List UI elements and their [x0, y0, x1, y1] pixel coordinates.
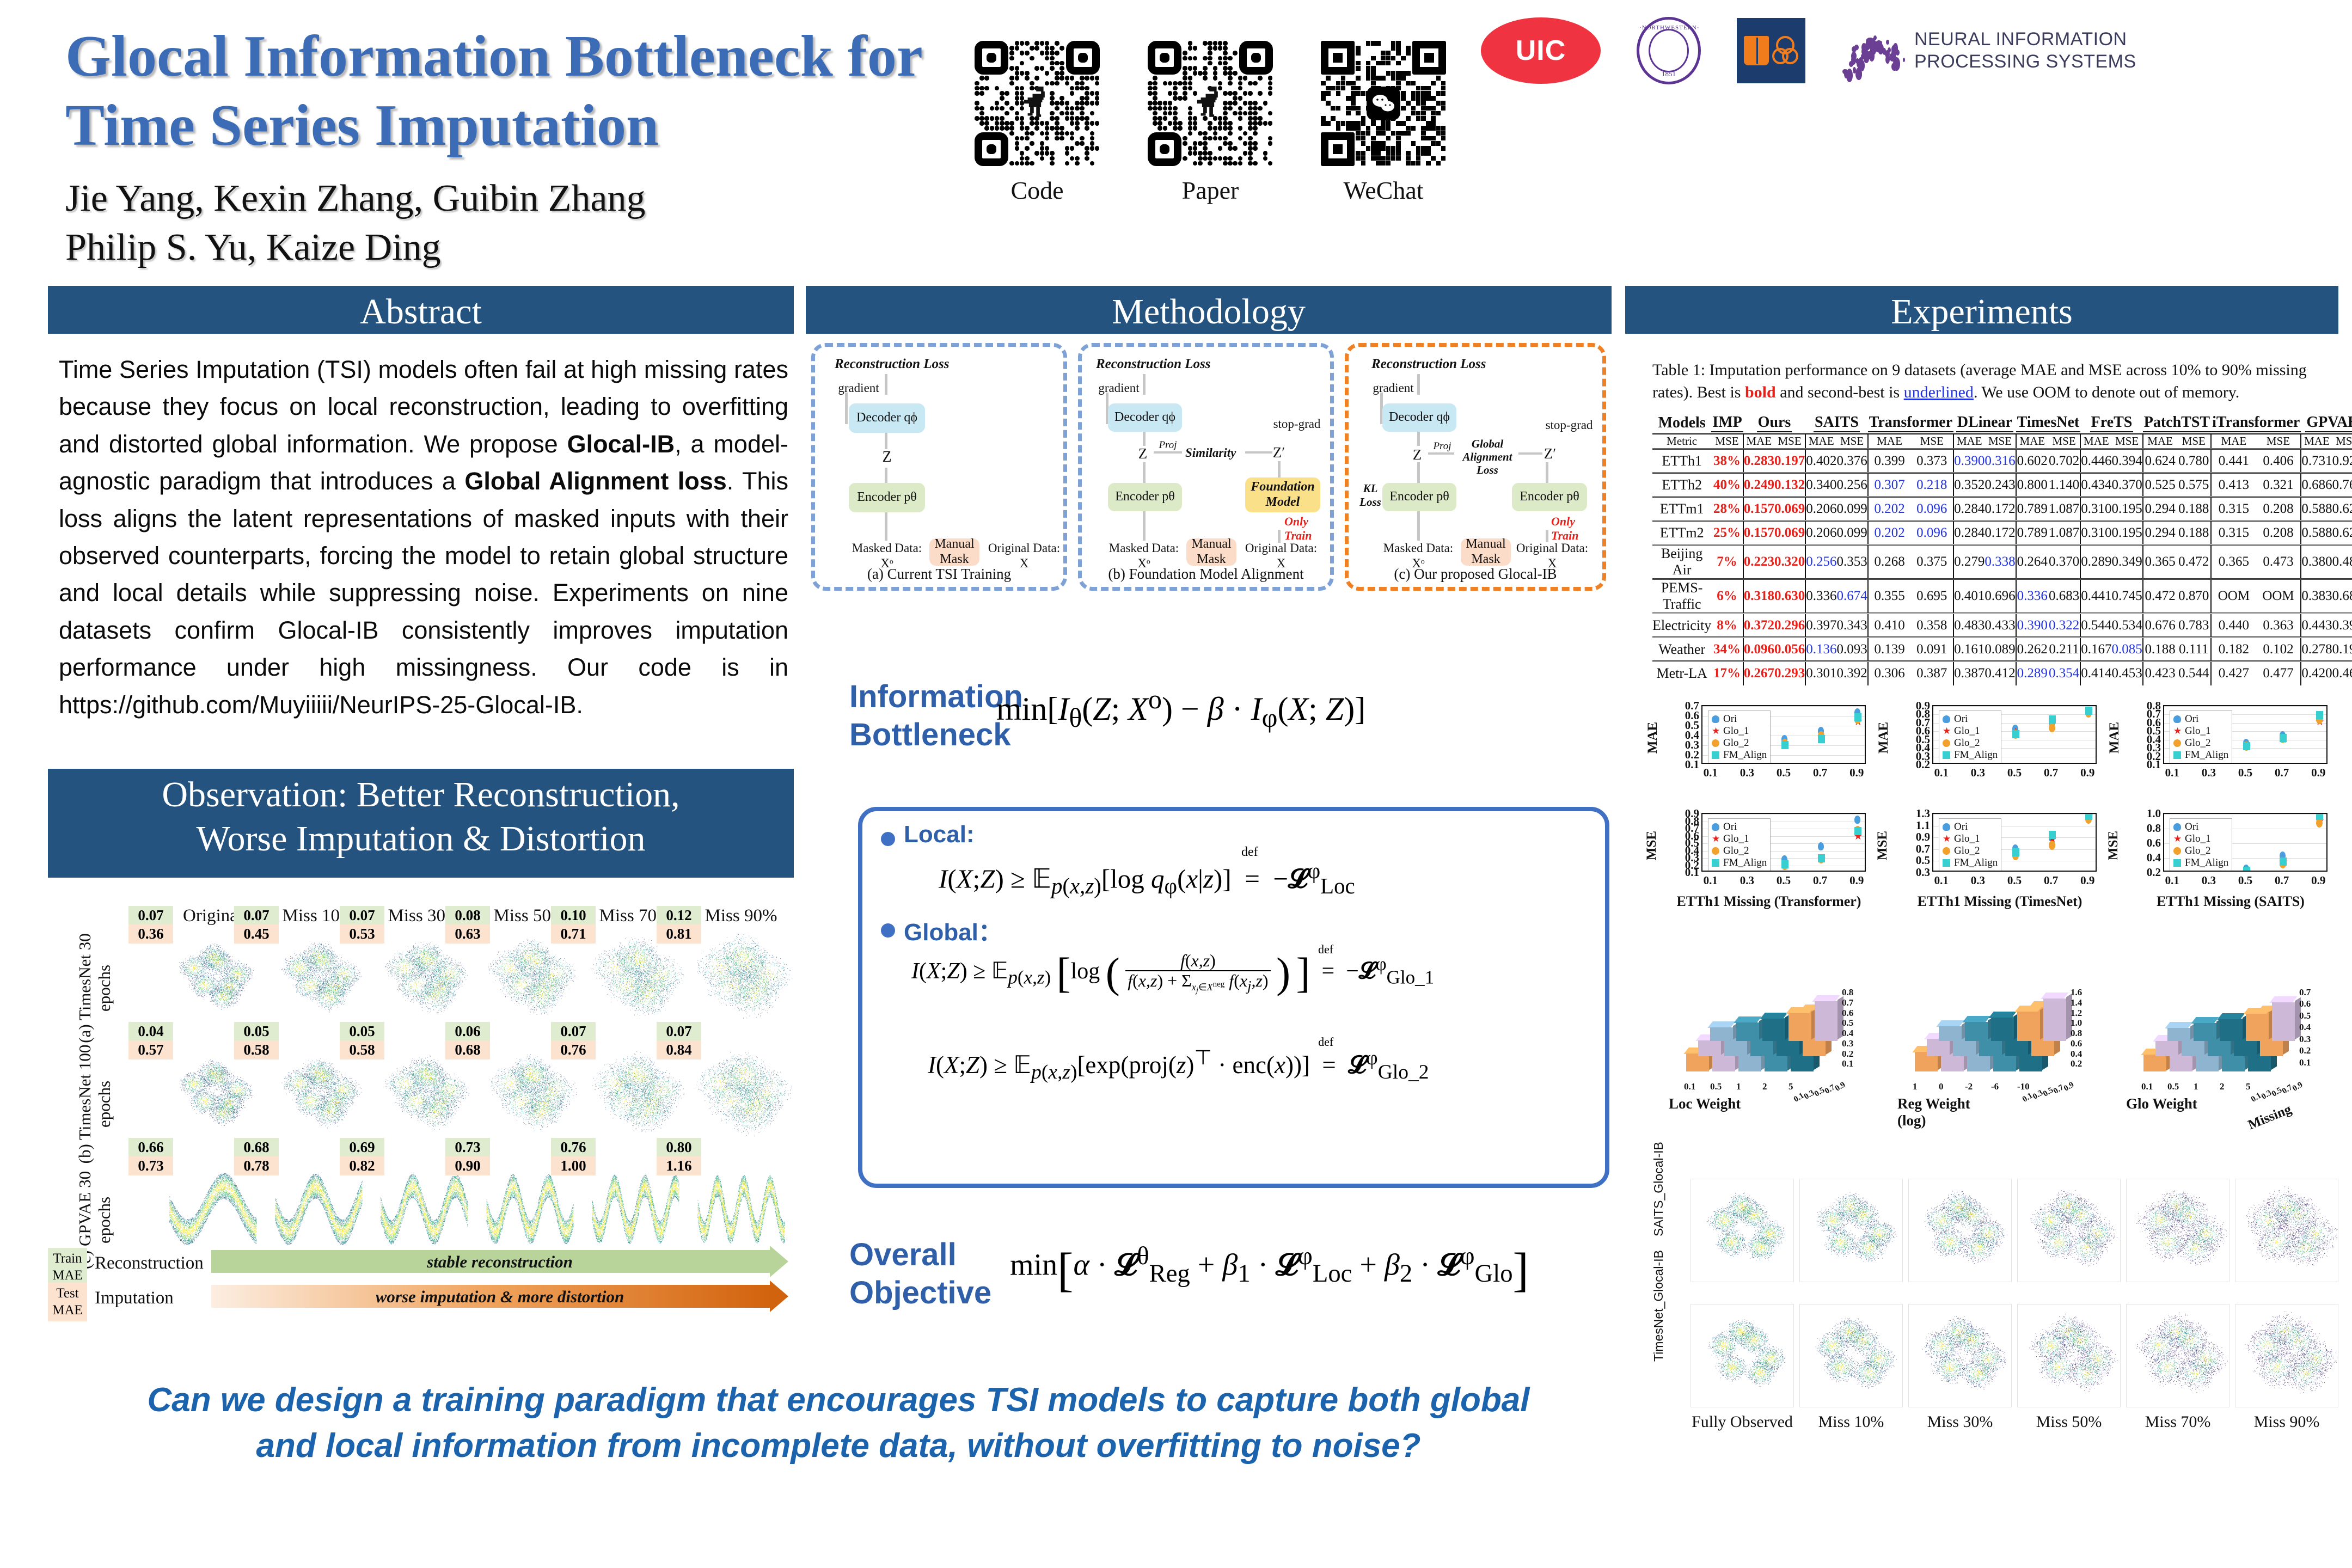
- table-cell-value: 0.928: [2332, 449, 2352, 473]
- bar3d-y-tick: 0.8: [2071, 1028, 2082, 1039]
- neurips-line-1: NEURAL INFORMATION: [1914, 28, 2136, 51]
- local-label: Local:: [904, 821, 975, 848]
- table-cell-value: 0.401: [1953, 579, 1984, 614]
- methodology-diagrams: Reconstruction Loss gradient Decoder qϕ …: [811, 343, 1612, 599]
- marker-icon: [1943, 823, 1950, 831]
- observation-badge-test: 0.78: [234, 1156, 279, 1175]
- chart-y-tick: 0.8: [2139, 822, 2161, 835]
- tsne-cell: [2017, 1179, 2121, 1282]
- gradient-arrow-a: [845, 393, 848, 424]
- poster-header: Glocal Information Bottleneck for Time S…: [0, 0, 2352, 272]
- question-line-2: and local information from incomplete da…: [54, 1423, 1622, 1469]
- table-cell-value: 0.440: [2211, 614, 2256, 638]
- arrow-original-to-encoder-c: [1546, 530, 1548, 542]
- authors-line-2: Philip S. Yu, Kaize Ding: [65, 223, 936, 272]
- arrow-z-to-decoder-b: [1143, 432, 1146, 446]
- chart-plot-area: ★★★★★Ori★Glo_1Glo_2FM_Align: [2163, 813, 2327, 872]
- table-cell-value: OOM: [2211, 579, 2256, 614]
- qr-label-code: Code: [975, 176, 1100, 205]
- diagram-c-global-alignment-loss-label: Global Alignment Loss: [1457, 437, 1517, 476]
- neurips-logo: NEURAL INFORMATION PROCESSING SYSTEMS: [1841, 21, 2136, 81]
- legend-item: Glo_2: [1712, 737, 1767, 749]
- table-header-model: iTransformer: [2211, 414, 2301, 434]
- table-cell-value: 0.397: [1805, 614, 1836, 638]
- global-label: Global：: [904, 912, 1002, 947]
- table-cell-value: 0.289: [2080, 545, 2111, 579]
- chart-x-tick: 0.5: [1774, 766, 1793, 780]
- author-list: Jie Yang, Kexin Zhang, Guibin Zhang Phil…: [65, 174, 936, 272]
- bar3d-x-tick: -10: [2017, 1081, 2030, 1092]
- legend-item: Glo_2: [2173, 737, 2228, 749]
- chart-legend: Ori★Glo_1Glo_2FM_Align: [1708, 818, 1771, 872]
- tsne-row-label: TimesNet_Glocal-IB: [1651, 1247, 1666, 1362]
- marker-icon: [1712, 715, 1719, 723]
- chart-x-tick: 0.3: [1737, 874, 1757, 887]
- table-cell-value: 0.353: [1836, 545, 1867, 579]
- table-cell-value: 0.446: [2080, 449, 2111, 473]
- diagram-b-proj-label: Proj: [1151, 439, 1184, 452]
- observation-badge-test: 0.45: [234, 924, 279, 944]
- legend-item: ★Glo_1: [1712, 725, 1767, 737]
- star-icon: ★: [1943, 835, 1950, 843]
- observation-badge-test: 0.76: [551, 1040, 596, 1059]
- observation-badge-test: 0.71: [551, 924, 596, 944]
- chart-x-tick: 0.7: [2041, 766, 2061, 780]
- qr-label-paper: Paper: [1148, 176, 1273, 205]
- chart-point-fm_align: [1939, 871, 1946, 872]
- table-cell-value: 0.674: [1836, 579, 1867, 614]
- observation-badge-train: 0.08: [445, 906, 490, 925]
- table-cell-value: 0.394: [2111, 449, 2142, 473]
- observation-badge-train: 0.68: [234, 1138, 279, 1157]
- neurips-dots-icon: [1841, 21, 1907, 81]
- marker-icon: [1712, 751, 1719, 759]
- legend-label: Ori: [1954, 821, 1968, 833]
- observation-badge-test: 0.84: [657, 1040, 701, 1059]
- table-cell-value: 0.390: [2016, 614, 2048, 638]
- table-cell-value: 0.544: [2080, 614, 2111, 638]
- tsne-col-label: Miss 90%: [2235, 1413, 2338, 1431]
- table-cell-value: 0.780: [2177, 449, 2211, 473]
- table-row: Beijing Air7%0.2230.3200.2560.3530.2680.…: [1652, 545, 2352, 579]
- table-cell-value: 0.161: [1953, 638, 1984, 661]
- northwestern-year: 1851: [1639, 70, 1698, 78]
- observation-row-label: (a) TimesNet 30 epochs: [75, 923, 114, 1053]
- scatter-chart: MSE★★★★★Ori★Glo_1Glo_2FM_Align0.20.40.60…: [2129, 808, 2332, 889]
- chart-point-fm_align: [2316, 711, 2323, 719]
- table-cell-value: 0.293: [1774, 661, 1805, 685]
- chart-gridline: [2164, 814, 2326, 814]
- table-cell-value: 0.390: [1953, 449, 1984, 473]
- diagram-our-proposed-glocal-ib: Reconstruction Loss gradient Decoder qϕ …: [1345, 343, 1606, 591]
- bar3d-y-tick: 0.4: [2071, 1049, 2082, 1059]
- abstract-bold-global-alignment: Global Alignment loss: [464, 467, 726, 495]
- table-cell-value: 0.870: [2177, 579, 2211, 614]
- chart-y-tick: 0.7: [1677, 699, 1699, 713]
- qr-code-paper[interactable]: Paper: [1148, 41, 1273, 205]
- arrow-stable-reconstruction: stable reconstruction: [211, 1250, 788, 1273]
- arrow-fm-to-zprime-b: [1278, 461, 1281, 477]
- table-cell-value: 0.206: [1805, 521, 1836, 545]
- tsne-row-label: SAITS_Glocal-IB: [1651, 1122, 1666, 1236]
- tsne-cell: [1908, 1304, 2012, 1407]
- observation-row-label: (b) TimesNet 100 epochs: [75, 1039, 114, 1169]
- bar3d-x-axis-label: Reg Weight (log): [1897, 1095, 2001, 1129]
- bar3d-chart: 0.10.20.30.40.50.60.70.10.51250.10.30.50…: [2115, 980, 2327, 1116]
- table-row: PEMS-Traffic6%0.3180.6300.3360.6740.3550…: [1652, 579, 2352, 614]
- observation-badge-train: 0.07: [340, 906, 384, 925]
- table-cell-dataset: ETTh1: [1652, 449, 1711, 473]
- bar3d-x-tick: 0: [1939, 1081, 1944, 1092]
- qr-code-image-wechat[interactable]: [1321, 41, 1446, 166]
- table-header-imp: IMP: [1711, 414, 1743, 434]
- table-cell-value: 0.096: [1910, 497, 1953, 521]
- marker-icon: [2173, 739, 2181, 747]
- table-cell-value: 0.525: [2143, 473, 2177, 497]
- global-equation-2: I(X;Z) ≥ 𝔼p(x,z)[exp(proj(z)⊤ · enc(x))]…: [928, 1045, 1429, 1084]
- table-header-model: SAITS: [1805, 414, 1868, 434]
- marker-icon: [1712, 739, 1719, 747]
- tsne-grid: SAITS_Glocal-IBTimesNet_Glocal-IBFully O…: [1652, 1179, 2341, 1473]
- chart-x-tick: 0.9: [1847, 874, 1866, 887]
- bar3d-bar-front: [1736, 1022, 1759, 1041]
- table-cell-imp: 34%: [1711, 638, 1743, 661]
- qr-finder-top-left: [1148, 41, 1181, 75]
- tsne-col-label: Miss 70%: [2126, 1413, 2229, 1431]
- title-line-2: Time Series Imputation: [65, 91, 947, 160]
- bar3d-bar-front: [1710, 1027, 1733, 1041]
- legend-label: FM_Align: [1723, 749, 1767, 761]
- table-cell-value: 0.195: [2111, 521, 2142, 545]
- wechat-icon: [1367, 87, 1400, 120]
- table-metric-mae: MAE: [1868, 434, 1911, 449]
- observation-badge-train: 0.07: [657, 1022, 701, 1041]
- tsne-col-label: Miss 30%: [1908, 1413, 2012, 1431]
- table-cell-value: 0.414: [2080, 661, 2111, 685]
- table-cell-value: 0.172: [1984, 497, 2016, 521]
- chart-x-tick: 0.7: [2272, 766, 2292, 780]
- table-metric-mse: MSE: [2256, 434, 2301, 449]
- objective-label-line-1: Overall: [849, 1236, 996, 1274]
- bar3d-x-axis-label: Glo Weight: [2126, 1095, 2229, 1112]
- observation-badge-train: 0.07: [551, 1022, 596, 1041]
- observation-scatter-cell: [689, 1159, 793, 1259]
- legend-label: FM_Align: [1723, 857, 1767, 869]
- table-cell-value: 0.188: [2177, 497, 2211, 521]
- table-cell-value: 0.412: [1984, 661, 2016, 685]
- legend-label: Glo_2: [1723, 737, 1749, 749]
- qr-finder-bottom-left: [975, 132, 1008, 166]
- arrow-z-to-decoder-c: [1417, 432, 1420, 446]
- table-cell-value: 0.352: [1953, 473, 1984, 497]
- chart-point-fm_align: [1781, 860, 1788, 868]
- scatter-chart-grid: MAE★★★★★Ori★Glo_1Glo_2FM_Align0.10.20.30…: [1652, 700, 2341, 912]
- bar3d-bar-front: [1788, 1013, 1811, 1041]
- marker-icon: [2173, 751, 2181, 759]
- legend-label: Ori: [2185, 713, 2198, 725]
- legend-item: FM_Align: [1943, 749, 1998, 761]
- chart-x-tick: 0.9: [1847, 766, 1866, 780]
- bar3d-bar-front: [2194, 1023, 2216, 1041]
- legend-label: Glo_1: [1723, 833, 1749, 845]
- table-cell-value: 0.283: [1743, 449, 1774, 473]
- table-cell-value: 0.483: [2332, 545, 2352, 579]
- tsne-cell: [2126, 1179, 2229, 1282]
- section-banner-experiments: Experiments: [1625, 286, 2338, 334]
- bar3d-x-tick: 0.1: [1684, 1081, 1695, 1092]
- diagram-b-latent-zprime: Z′: [1267, 444, 1291, 461]
- table-cell-value: 0.477: [2256, 661, 2301, 685]
- qr-code-image-code[interactable]: [975, 41, 1100, 166]
- neurips-wordmark: NEURAL INFORMATION PROCESSING SYSTEMS: [1914, 28, 2136, 73]
- qr-code-group: Code Paper: [975, 41, 1446, 205]
- table-metric-mae: MAE: [1805, 434, 1836, 449]
- diagram-c-encoder-box-left: Encoder pθ: [1382, 483, 1456, 511]
- table-cell-value: 0.102: [2256, 638, 2301, 661]
- chart-y-axis-label: MSE: [1644, 831, 1659, 860]
- star-icon: ★: [2173, 727, 2181, 735]
- bar3d-y-tick: 0.7: [2299, 987, 2311, 998]
- bar3d-bar-front: [1927, 1039, 1950, 1056]
- bar3d-x-tick: -6: [1991, 1081, 1999, 1092]
- table-cell-value: 0.289: [2016, 661, 2048, 685]
- section-banner-observation: Observation: Better Reconstruction, Wors…: [48, 769, 794, 878]
- observation-badge-train: 0.12: [657, 906, 701, 925]
- arrow-encoder-to-zprime-c: [1546, 462, 1548, 483]
- observation-badge-train: 0.69: [340, 1138, 384, 1157]
- table-cell-value: 0.195: [2332, 638, 2352, 661]
- bar3d-bar-front: [1815, 1001, 1837, 1041]
- table-cell-value: 0.188: [2177, 521, 2211, 545]
- chart-point-glo1: ★: [2206, 871, 2215, 872]
- table-cell-dataset: Electricity: [1652, 614, 1711, 638]
- diagram-c-stopgrad-label: stop-grad: [1534, 418, 1604, 433]
- abstract-bold-glocal-ib: Glocal-IB: [567, 430, 675, 458]
- legend-item: Ori: [1712, 713, 1767, 725]
- chart-point-fm_align: [2243, 867, 2250, 872]
- chart-x-tick: 0.9: [2078, 766, 2097, 780]
- chart-point-fm_align: [2316, 813, 2323, 820]
- table-metric-mae: MAE: [2016, 434, 2048, 449]
- table-metric-mse: MSE: [2111, 434, 2142, 449]
- table-cell-value: 0.413: [2211, 473, 2256, 497]
- scatter-chart: MAE★★★★★Ori★Glo_1Glo_2FM_Align0.10.20.30…: [1668, 701, 1870, 781]
- table-cell-value: 0.575: [2177, 473, 2211, 497]
- table-header-model: PatchTST: [2143, 414, 2211, 434]
- observation-scatter-cell: [689, 1043, 793, 1143]
- table-cell-value: 0.627: [2332, 521, 2352, 545]
- legend-label: FM_Align: [1954, 857, 1998, 869]
- table-cell-value: 0.336: [2016, 579, 2048, 614]
- table-cell-value: 0.340: [1805, 473, 1836, 497]
- chart-plot-area: ★★★★★Ori★Glo_1Glo_2FM_Align: [2163, 705, 2327, 764]
- observation-grid: OriginalMiss 10%Miss 30%Miss 50%Miss 70%…: [48, 887, 794, 1290]
- table-cell-dataset: Beijing Air: [1652, 545, 1711, 579]
- diagram-c-latent-zprime: Z′: [1538, 445, 1562, 462]
- observation-badge-train: 0.05: [234, 1022, 279, 1041]
- arrow-encoder-to-z-a: [885, 468, 887, 484]
- chart-x-tick: 0.7: [1810, 766, 1830, 780]
- arrow-proj-b: [1154, 451, 1182, 454]
- observation-badge-train: 0.05: [340, 1022, 384, 1041]
- bar3d-y-tick: 0.2: [2071, 1058, 2082, 1069]
- chart-x-tick: 0.7: [2041, 874, 2061, 887]
- chart-x-tick: 0.3: [2199, 874, 2219, 887]
- table-cell-value: 0.373: [1910, 449, 1953, 473]
- table-cell-value: 0.588: [2301, 521, 2332, 545]
- arrow-encoder-to-z-c: [1417, 462, 1420, 483]
- chart-plot-area: ★★★★★Ori★Glo_1Glo_2FM_Align: [1701, 705, 1866, 764]
- objective-label-line-2: Objective: [849, 1274, 996, 1312]
- marker-icon: [1943, 859, 1950, 867]
- ib-label-line-1: Information: [849, 678, 985, 716]
- table-cell-value: 0.365: [2211, 545, 2256, 579]
- table-cell-imp: 7%: [1711, 545, 1743, 579]
- table-cell-value: 0.279: [1953, 545, 1984, 579]
- chart-gridline: [1702, 706, 1865, 707]
- observation-badge-test: 1.16: [657, 1156, 701, 1175]
- bound-equations-box: Local: I(X;Z) ≥ 𝔼p(x,z)[log qφ(x|z)] def…: [858, 807, 1609, 1188]
- diagram-b-caption: (b) Foundation Model Alignment: [1082, 566, 1330, 583]
- bar3d-y-tick: 0.6: [2299, 999, 2311, 1009]
- table-cell-value: 0.197: [1774, 449, 1805, 473]
- tsne-cell: [2235, 1179, 2338, 1282]
- table-cell-imp: 6%: [1711, 579, 1743, 614]
- legend-item: FM_Align: [1712, 749, 1767, 761]
- tsne-col-label: Miss 50%: [2017, 1413, 2121, 1431]
- table-cell-value: 0.441: [2080, 579, 2111, 614]
- legend-label: Ori: [1723, 713, 1737, 725]
- chart-gridline: [1933, 814, 2096, 814]
- legend-item: Glo_2: [2173, 845, 2228, 857]
- table-cell-value: 0.089: [1984, 638, 2016, 661]
- bar3d-x-tick: 0.1: [2141, 1081, 2153, 1092]
- table-cell-value: 0.696: [1984, 579, 2016, 614]
- qr-code-code[interactable]: Code: [975, 41, 1100, 205]
- chart-point-fm_align: [1854, 713, 1861, 721]
- diagram-c-kl-loss-label: KL Loss: [1356, 482, 1385, 509]
- diagram-a-gradient-label: gradient: [826, 381, 891, 396]
- tsne-cell: [2126, 1304, 2229, 1407]
- legend-label: FM_Align: [2185, 749, 2228, 761]
- table-cell-imp: 40%: [1711, 473, 1743, 497]
- qr-finder-top-right: [1412, 41, 1446, 75]
- overall-objective-formula: min[α · 𝓛θReg + β1 · 𝓛φLoc + β2 · 𝓛φGlo]: [1010, 1241, 1529, 1298]
- bar3d-bar-front: [1698, 1040, 1721, 1056]
- table-cell-value: 0.483: [1953, 614, 1984, 638]
- table-cell-value: 0.091: [1910, 638, 1953, 661]
- abstract-part-3: . This loss aligns the latent representa…: [59, 467, 788, 718]
- qr-code-image-paper[interactable]: [1148, 41, 1273, 166]
- legend-key-train-line2: MAE: [48, 1267, 87, 1284]
- table-cell-value: 0.208: [2256, 521, 2301, 545]
- marker-icon: [1943, 751, 1950, 759]
- table-cell-value: 0.392: [1836, 661, 1867, 685]
- table-cell-value: 0.294: [2143, 521, 2177, 545]
- neurips-line-2: PROCESSING SYSTEMS: [1914, 51, 2136, 73]
- table-metric-mae: MAE: [2211, 434, 2256, 449]
- observation-badge-test: 0.58: [340, 1040, 384, 1059]
- information-bottleneck-label: Information Bottleneck: [849, 678, 985, 754]
- chart-x-tick: 0.9: [2308, 874, 2328, 887]
- table-cell-value: 0.256: [1836, 473, 1867, 497]
- table-cell-value: 0.206: [1805, 497, 1836, 521]
- table-cell-value: 0.349: [2111, 545, 2142, 579]
- diagram-b-only-train-label: Only Train: [1284, 514, 1330, 543]
- table-cell-value: 0.099: [1836, 497, 1867, 521]
- table-cell-value: 0.630: [1774, 579, 1805, 614]
- authors-line-1: Jie Yang, Kexin Zhang, Guibin Zhang: [65, 174, 936, 223]
- bar3d-y-tick: 0.8: [1842, 987, 1853, 998]
- table-row: Electricity8%0.3720.2960.3970.3430.4100.…: [1652, 614, 2352, 638]
- arrow-encoder-to-z-b: [1143, 462, 1146, 483]
- tsne-col-label: Miss 10%: [1799, 1413, 1903, 1431]
- arrow-up-to-loss-a: [885, 374, 887, 395]
- table-cell-value: 0.069: [1774, 497, 1805, 521]
- observation-title-line-1: Observation: Better Reconstruction,: [48, 773, 794, 817]
- performance-table: ModelsIMPOursSAITSTransformerDLinearTime…: [1652, 414, 2352, 685]
- table-metric-mae: MAE: [1953, 434, 1984, 449]
- bar3d-x-tick: 2: [1762, 1081, 1767, 1092]
- chart-x-tick: 0.7: [1810, 874, 1830, 887]
- table-cell-value: 0.683: [2048, 579, 2080, 614]
- chart-y-axis-label: MAE: [1645, 722, 1661, 754]
- table-cell-value: 0.320: [1774, 545, 1805, 579]
- chart-caption: ETTh1 Missing (SAITS): [2129, 893, 2332, 910]
- bar3d-y-tick: 1.4: [2071, 997, 2082, 1008]
- table-cell-value: 0.136: [1805, 638, 1836, 661]
- table-cell-value: 0.284: [1953, 521, 1984, 545]
- arrow-masked-to-encoder-a: [885, 512, 887, 541]
- table-header-model: Transformer: [1868, 414, 1953, 434]
- bar3d-y-tick: 0.2: [2299, 1045, 2311, 1056]
- table-row: ETTm225%0.1570.0690.2060.0990.2020.0960.…: [1652, 521, 2352, 545]
- northwestern-arc-text: ·NORTHWESTERN·: [1639, 24, 1698, 31]
- observation-badge-test: 0.82: [340, 1156, 384, 1175]
- chart-point-fm_align: [2243, 742, 2250, 750]
- table-cell-value: 0.695: [1910, 579, 1953, 614]
- table-cell-value: 0.343: [1836, 614, 1867, 638]
- chart-x-tick: 0.1: [2163, 874, 2182, 887]
- observation-badge-train: 0.76: [551, 1138, 596, 1157]
- chart-y-tick: 0.4: [2139, 851, 2161, 865]
- table-cell-value: 0.294: [2143, 497, 2177, 521]
- global-equation-1: I(X;Z) ≥ 𝔼p(x,z) [log ( f(x,z) f(x,z) + …: [911, 948, 1434, 997]
- table-cell-value: 0.268: [1868, 545, 1911, 579]
- qr-code-wechat[interactable]: WeChat: [1321, 41, 1446, 205]
- table-header-model: DLinear: [1953, 414, 2016, 434]
- observation-badge-test: 0.81: [657, 924, 701, 944]
- bar3d-y-tick: 0.5: [2299, 1010, 2311, 1021]
- observation-badge-test: 0.57: [128, 1040, 173, 1059]
- table-cell-value: 0.745: [2111, 579, 2142, 614]
- diagram-c-caption: (c) Our proposed Glocal-IB: [1349, 566, 1602, 583]
- chart-point-glo_2: [2049, 723, 2055, 732]
- table-cell-dataset: Weather: [1652, 638, 1711, 661]
- chart-point-ori: [1818, 842, 1824, 850]
- table-metric-mse: MSE: [2048, 434, 2080, 449]
- hkust-logo: [1737, 18, 1805, 83]
- table-cell-value: OOM: [2256, 579, 2301, 614]
- qr-finder-bottom-left: [1148, 132, 1181, 166]
- observation-badge-test: 0.53: [340, 924, 384, 944]
- bar3d-x-tick: -2: [1965, 1081, 1973, 1092]
- table-cell-value: 0.406: [2256, 449, 2301, 473]
- table-metric-mse: MSE: [1774, 434, 1805, 449]
- qr-center-logo-code: [1020, 87, 1054, 120]
- dino-icon: [1193, 87, 1223, 118]
- table-cell-value: 0.336: [1805, 579, 1836, 614]
